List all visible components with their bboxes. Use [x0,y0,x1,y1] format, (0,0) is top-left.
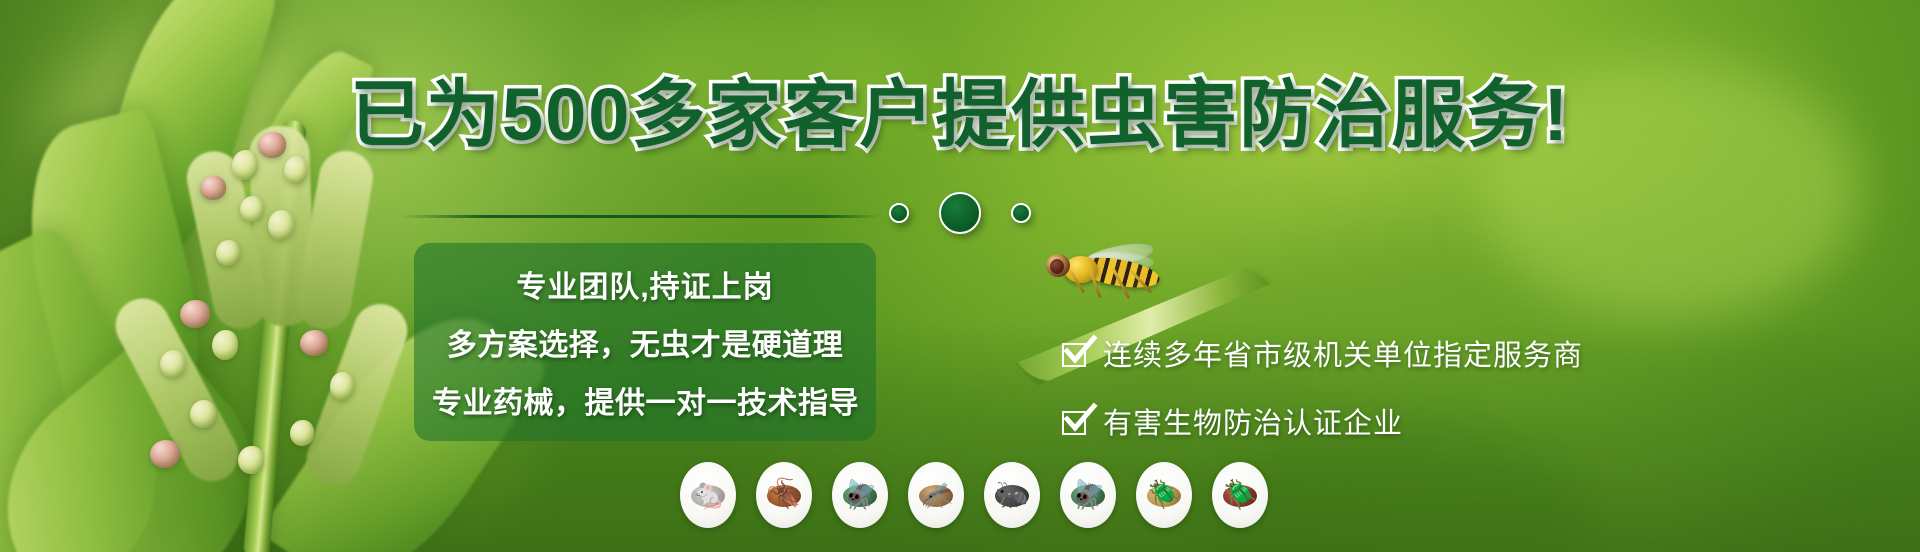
mosquito-icon[interactable]: 🦟 [908,462,964,528]
pest-glyph: 🪰 [843,481,878,509]
feature-line-2: 多方案选择，无虫才是硬道理 [432,320,858,364]
cockroach-icon[interactable]: 🪳 [756,462,812,528]
flea-icon[interactable]: 🪲 [1136,462,1192,528]
feature-panel: 专业团队,持证上岗 多方案选择，无虫才是硬道理 专业药械，提供一对一技术指导 [414,243,876,441]
pest-icon-row: 🐁🪳🪰🦟🐜🪰🪲🪲 [680,462,1268,528]
credentials-checklist: 连续多年省市级机关单位指定服务商 有害生物防治认证企业 [1062,332,1583,468]
dot-small-right-icon [1011,203,1031,223]
insect-eye [1050,259,1064,274]
pest-control-banner: 已为500多家客户提供虫害防治服务! 专业团队,持证上岗 多方案选择，无虫才是硬… [0,0,1920,552]
rat-icon[interactable]: 🐁 [680,462,736,528]
pest-glyph: 🪰 [1071,481,1106,509]
feature-line-1: 专业团队,持证上岗 [432,262,858,306]
checklist-item: 连续多年省市级机关单位指定服务商 [1062,332,1583,374]
feature-line-3: 专业药械，提供一对一技术指导 [432,378,858,422]
dot-large-center-icon [939,192,981,234]
fly-icon[interactable]: 🪰 [832,462,888,528]
checkbox-check-icon [1062,340,1089,367]
fly-icon-2[interactable]: 🪰 [1060,462,1116,528]
pest-glyph: 🦟 [919,482,953,509]
dot-small-left-icon [889,203,909,223]
checklist-label-1: 连续多年省市级机关单位指定服务商 [1103,332,1583,374]
decorative-dot-row [0,192,1920,234]
pest-glyph: 🪳 [766,481,802,510]
ant-icon[interactable]: 🐜 [984,462,1040,528]
hoverfly-illustration [1040,248,1170,308]
horizontal-divider [400,215,880,218]
bedbug-icon[interactable]: 🪲 [1212,462,1268,528]
headline-text-outline: 已为500多家客户提供虫害防治服务! [0,78,1920,152]
checklist-label-2: 有害生物防治认证企业 [1103,400,1403,442]
pest-glyph: 🪲 [1223,481,1258,509]
pest-glyph: 🪲 [1147,482,1181,509]
checklist-item: 有害生物防治认证企业 [1062,400,1583,442]
insect-head [1046,254,1070,277]
pest-glyph: 🐜 [995,482,1029,509]
headline-block: 已为500多家客户提供虫害防治服务! [0,0,1920,180]
checkbox-check-icon [1062,408,1089,435]
pest-glyph: 🐁 [689,480,726,510]
